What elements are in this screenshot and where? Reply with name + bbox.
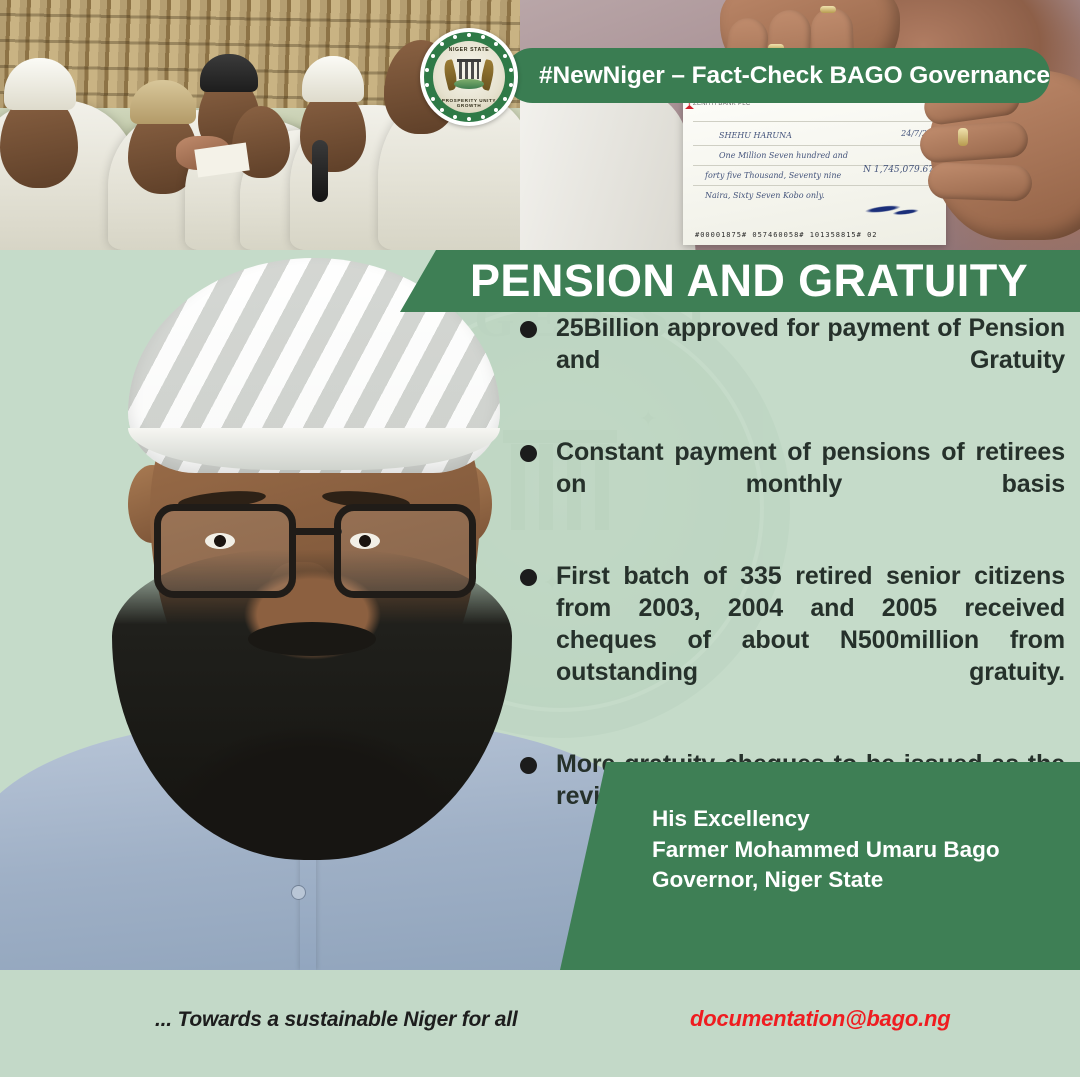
governor-portrait	[0, 250, 600, 970]
seal-crest-icon	[446, 54, 492, 94]
photo-ring	[820, 6, 836, 13]
bullet-dot-icon	[520, 757, 537, 774]
poster-root: ZENITH BANK PLC SHEHU HARUNA 24/7/20 One…	[0, 0, 1080, 1077]
footer-bar: ... Towards a sustainable Niger for all …	[0, 970, 1080, 1077]
attribution-line-2: Farmer Mohammed Umaru Bago	[652, 835, 1000, 866]
cheque-amount-figures: N 1,745,079.67	[863, 165, 934, 175]
footer-tagline: ... Towards a sustainable Niger for all	[155, 1008, 518, 1032]
photo-finger	[927, 162, 1032, 202]
portrait-shirt-button	[292, 886, 305, 899]
photo-ring	[958, 128, 968, 146]
cheque-document: ZENITH BANK PLC SHEHU HARUNA 24/7/20 One…	[683, 95, 946, 245]
list-item: First batch of 335 retired senior citize…	[520, 560, 1065, 720]
seal-inner-disc: NIGER STATE PROSPERITY UNITY GROWTH	[433, 41, 505, 113]
cheque-payee: SHEHU HARUNA	[719, 131, 792, 140]
main-content: NIGER ST ✦ ✦ ✦	[0, 250, 1080, 970]
seal-river	[454, 79, 484, 89]
eyeglass-lens-left	[154, 504, 296, 598]
cheque-rule	[693, 145, 936, 146]
hashtag-banner: #NewNiger – Fact-Check BAGO Governance	[505, 48, 1050, 103]
cheque-amount-words-2: forty five Thousand, Seventy nine	[705, 171, 841, 180]
portrait-moustache	[248, 622, 376, 656]
attribution-block: His Excellency Farmer Mohammed Umaru Bag…	[560, 762, 1080, 970]
section-title-banner: PENSION AND GRATUITY	[400, 250, 1080, 312]
cheque-amount-words-1: One Million Seven hundred and	[719, 151, 848, 160]
bullet-dot-icon	[520, 569, 537, 586]
seal-bottom-text: PROSPERITY UNITY GROWTH	[433, 98, 505, 108]
portrait-eye-right	[350, 533, 380, 549]
cheque-photo: ZENITH BANK PLC SHEHU HARUNA 24/7/20 One…	[520, 0, 1080, 250]
cheque-rule	[693, 185, 936, 186]
attribution-line-3: Governor, Niger State	[652, 865, 1000, 896]
hashtag-banner-text: #NewNiger – Fact-Check BAGO Governance	[505, 62, 1050, 90]
cheque-signature	[861, 193, 934, 227]
bullet-text: First batch of 335 retired senior citize…	[556, 560, 1065, 720]
top-photo-strip: ZENITH BANK PLC SHEHU HARUNA 24/7/20 One…	[0, 0, 1080, 250]
list-item: 25Billion approved for payment of Pensio…	[520, 312, 1065, 408]
attribution-line-1: His Excellency	[652, 804, 1000, 835]
bullet-dot-icon	[520, 321, 537, 338]
footer-email[interactable]: documentation@bago.ng	[690, 1006, 950, 1032]
photo-microphone	[312, 140, 328, 202]
portrait-eyeglasses	[150, 498, 480, 590]
seal-top-text: NIGER STATE	[433, 47, 505, 53]
bullet-dot-icon	[520, 445, 537, 462]
niger-state-seal-icon: NIGER STATE PROSPERITY UNITY GROWTH	[420, 28, 518, 126]
cheque-micr-line: #00001875# 057460058# 101358815# 02	[695, 231, 878, 239]
list-item: Constant payment of pensions of retirees…	[520, 436, 1065, 532]
cheque-rule	[693, 121, 936, 122]
bullet-text: 25Billion approved for payment of Pensio…	[556, 312, 1065, 408]
white-garment	[520, 84, 696, 250]
seal-pillars	[459, 62, 479, 79]
cheque-amount-words-3: Naira, Sixty Seven Kobo only.	[705, 191, 825, 200]
page-title: PENSION AND GRATUITY	[452, 255, 1028, 307]
bullet-text: Constant payment of pensions of retirees…	[556, 436, 1065, 532]
portrait-eye-left	[205, 533, 235, 549]
eyeglass-lens-right	[334, 504, 476, 598]
attribution-text: His Excellency Farmer Mohammed Umaru Bag…	[652, 804, 1000, 896]
photo-finger	[919, 120, 1029, 163]
